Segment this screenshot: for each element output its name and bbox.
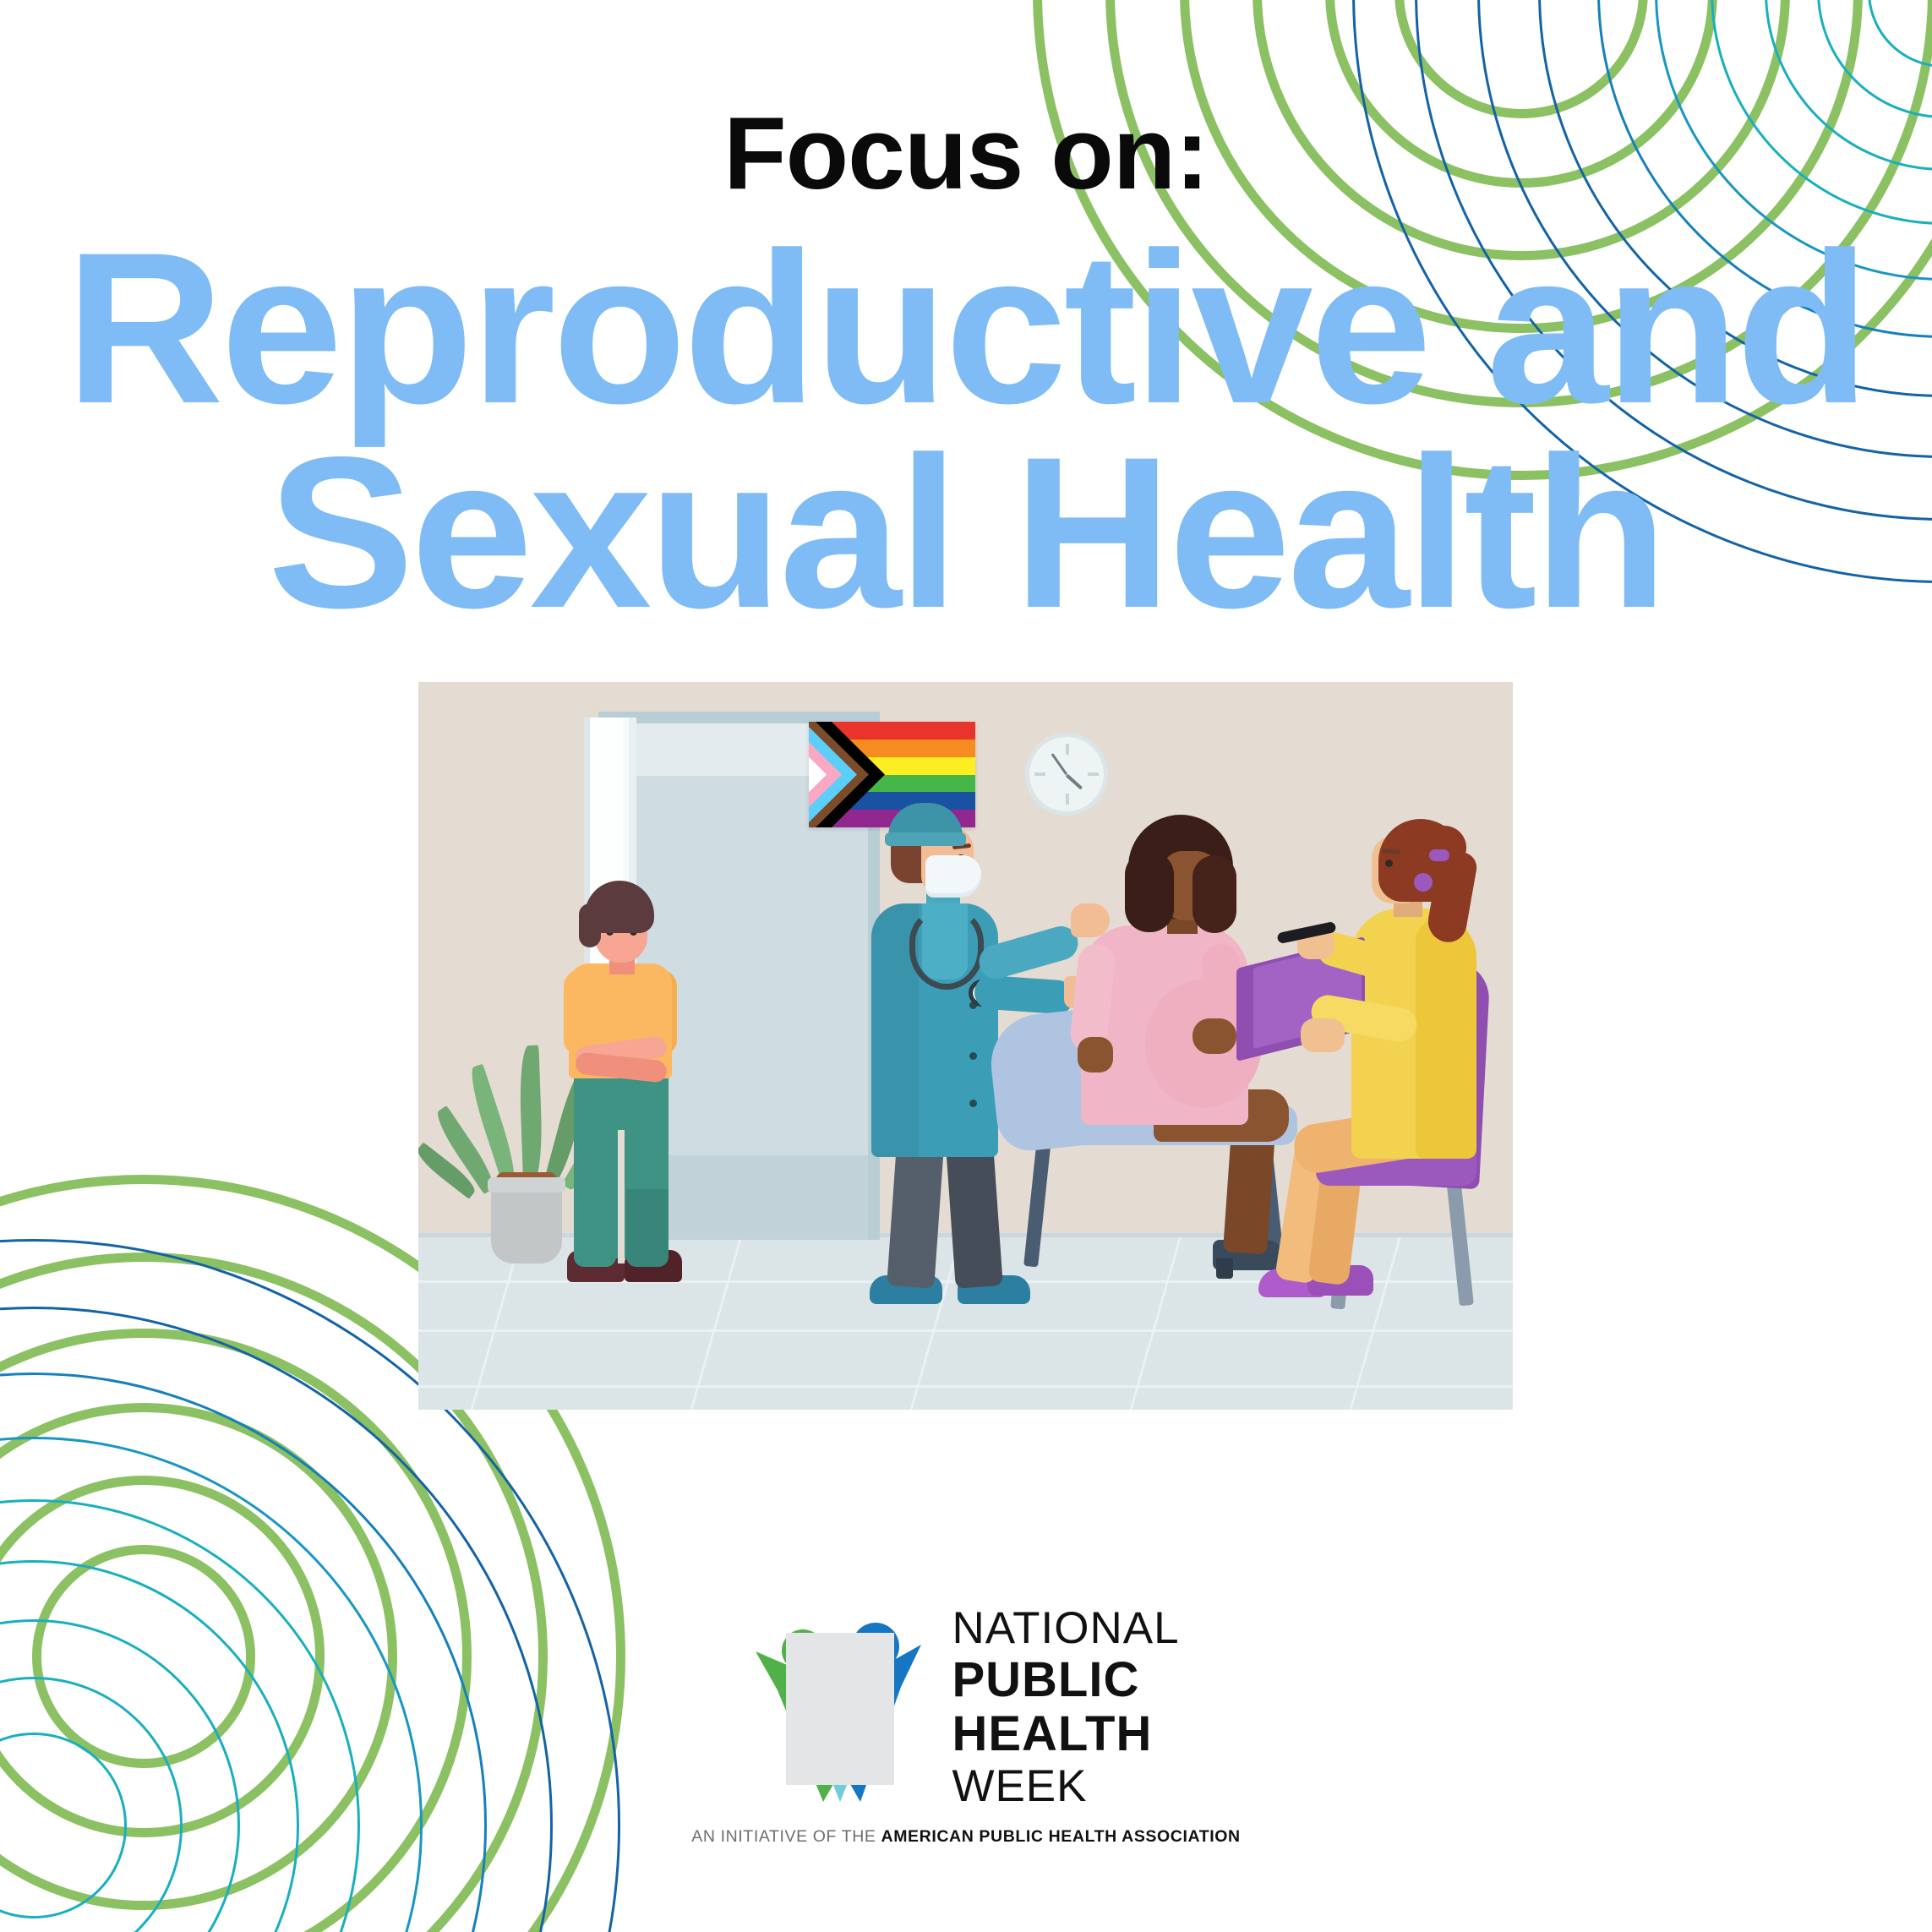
health-worker-dress-shade: [1416, 919, 1476, 1159]
doctor-cap-band: [885, 832, 966, 846]
doctor-coat-button: [969, 1100, 977, 1107]
plant-pot: [491, 1182, 562, 1263]
logo-row: NATIONAL PUBLIC HEALTH WEEK: [752, 1606, 1179, 1809]
floor-tile-line: [418, 1385, 1513, 1388]
patient-hair-side-right: [1192, 855, 1236, 933]
page-title-line-2: Sexual Health: [0, 431, 1932, 636]
wordmark-week: WEEK: [952, 1764, 1179, 1809]
patient-shoe-heel: [1216, 1258, 1233, 1279]
doctor-arm-lower: [974, 974, 1076, 1015]
health-worker-hair-tie: [1429, 849, 1449, 861]
clock-tick-3: [1088, 772, 1099, 776]
doctor-face-mask: [925, 855, 981, 898]
page-title: Reproductive and Sexual Health: [0, 226, 1932, 636]
doctor-coat-button: [969, 1052, 977, 1060]
doctor-pants-left: [887, 1143, 944, 1288]
doctor-hand-upper: [1071, 903, 1110, 937]
clock-hour-hand: [1066, 774, 1083, 790]
patient-hand-left: [1078, 1037, 1113, 1072]
footer: NATIONAL PUBLIC HEALTH WEEK AN INITIATIV…: [0, 1606, 1932, 1847]
standing-person-leg-gap: [618, 1130, 625, 1263]
clock-minute-hand: [1051, 753, 1068, 775]
standing-person-hair-side: [579, 903, 601, 947]
page-title-line-1: Reproductive and: [0, 226, 1932, 431]
clock-tick-12: [1066, 744, 1069, 755]
wordmark-national: NATIONAL: [952, 1606, 1179, 1651]
clock-tick-6: [1066, 794, 1069, 805]
stethoscope-tubing: [909, 909, 984, 990]
nphw-logo-mark: [752, 1613, 930, 1803]
logo-block: NATIONAL PUBLIC HEALTH WEEK AN INITIATIV…: [691, 1606, 1240, 1847]
health-worker-earring: [1414, 873, 1433, 892]
tagline-prefix: AN INITIATIVE OF THE: [691, 1827, 881, 1846]
clinic-illustration: [418, 682, 1513, 1410]
nphw-wordmark: NATIONAL PUBLIC HEALTH WEEK: [952, 1606, 1179, 1809]
standing-person-leg-left: [574, 1189, 616, 1267]
footer-tagline: AN INITIATIVE OF THE AMERICAN PUBLIC HEA…: [691, 1827, 1240, 1847]
logo-backdrop: [786, 1633, 894, 1785]
wall-clock: [1025, 733, 1108, 816]
wordmark-health: HEALTH: [952, 1710, 1179, 1759]
decor-ring: [1394, 0, 1648, 118]
floor-tile-line: [418, 1329, 1513, 1332]
decor-ring: [1868, 0, 1932, 68]
patient-hand-right: [1192, 1018, 1236, 1054]
wordmark-public: PUBLIC: [952, 1656, 1179, 1705]
clock-tick-9: [1034, 772, 1045, 776]
health-worker-hand-lower: [1301, 1018, 1345, 1052]
plant-pot-rim: [488, 1177, 565, 1192]
standing-person-leg-right: [626, 1189, 669, 1267]
eyebrow-heading: Focus on:: [0, 101, 1932, 205]
doctor-pants-right: [946, 1143, 1003, 1288]
health-worker-eye: [1385, 860, 1393, 867]
patient-hair-side-left: [1125, 851, 1174, 932]
decor-ring: [1817, 0, 1932, 118]
plant-leaf: [518, 1045, 543, 1182]
tagline-organization: AMERICAN PUBLIC HEALTH ASSOCIATION: [881, 1827, 1241, 1846]
poster-canvas: Focus on: Reproductive and Sexual Health: [0, 0, 1932, 1932]
